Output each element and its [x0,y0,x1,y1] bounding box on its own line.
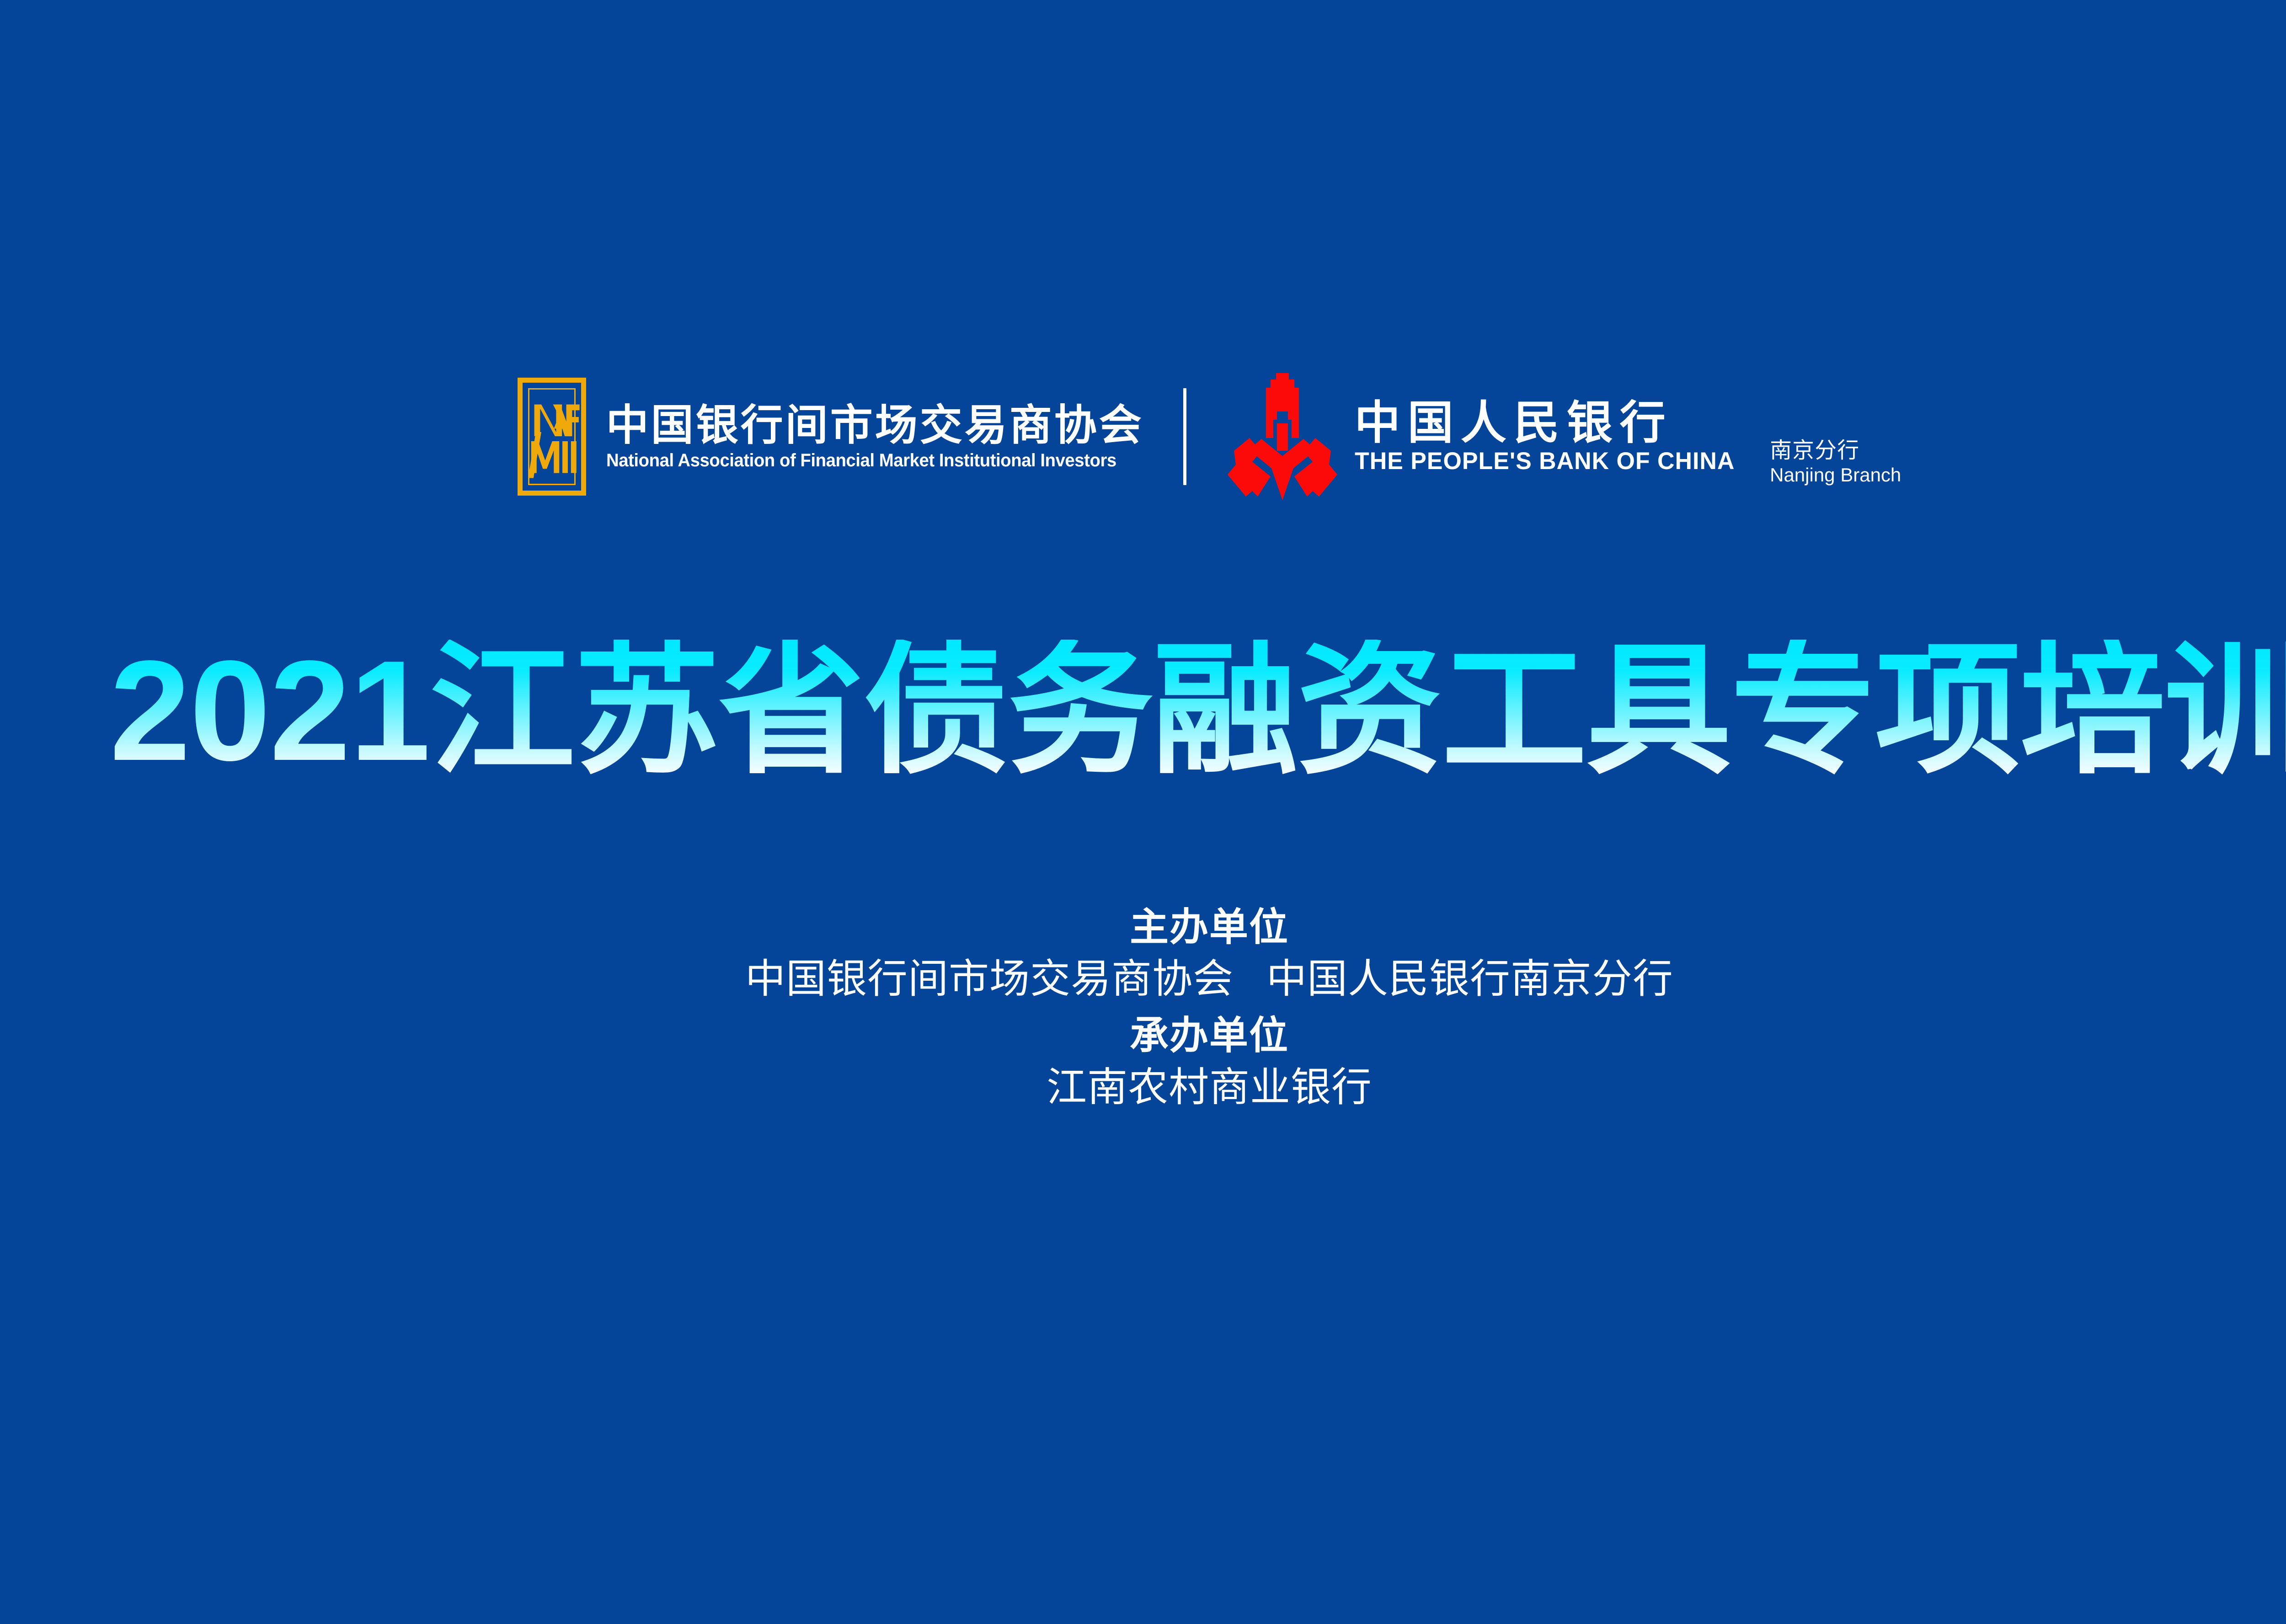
host-names: 中国银行间市场交易商协会中国人民银行南京分行 [0,953,2286,1005]
nafmii-name-en: National Association of Financial Market… [606,451,1122,470]
page-title: 2021江苏省债务融资工具专项培训 [105,640,2286,782]
host-name-2: 中国人民银行南京分行 [1266,956,1673,1001]
pboc-name-cn: 中国人民银行 [1355,399,1742,447]
poster-slide: 中国银行间市场交易商协会 National Association of Fin… [0,0,2286,1624]
host-label: 主办单位 [0,903,2286,953]
pboc-name-en: THE PEOPLE'S BANK OF CHINA [1355,449,1735,474]
logo-divider [1183,388,1186,485]
nafmii-logo-lockup: 中国银行间市场交易商协会 National Association of Fin… [518,378,1144,496]
title-area: 2021江苏省债务融资工具专项培训 [0,638,2286,784]
logo-bar: 中国银行间市场交易商协会 National Association of Fin… [0,368,2286,505]
host-name-1: 中国银行间市场交易商协会 [745,956,1234,1001]
nafmii-logo-icon [518,378,586,496]
pboc-text-block: 中国人民银行 THE PEOPLE'S BANK OF CHINA [1355,399,1742,474]
pboc-branch-en: Nanjing Branch [1770,464,1901,486]
pboc-branch-cn: 南京分行 [1770,438,1901,463]
organizer-name-1: 江南农村商业银行 [0,1061,2286,1113]
organizer-label: 承办单位 [0,1011,2286,1061]
organizer-block: 主办单位 中国银行间市场交易商协会中国人民银行南京分行 承办单位 江南农村商业银… [0,903,2286,1113]
pboc-branch-block: 南京分行 Nanjing Branch [1770,438,1901,503]
pboc-logo-icon [1226,370,1339,503]
nafmii-text-block: 中国银行间市场交易商协会 National Association of Fin… [606,403,1144,470]
nafmii-name-cn: 中国银行间市场交易商协会 [606,403,1144,448]
pboc-logo-lockup: 中国人民银行 THE PEOPLE'S BANK OF CHINA 南京分行 N… [1226,370,1901,503]
